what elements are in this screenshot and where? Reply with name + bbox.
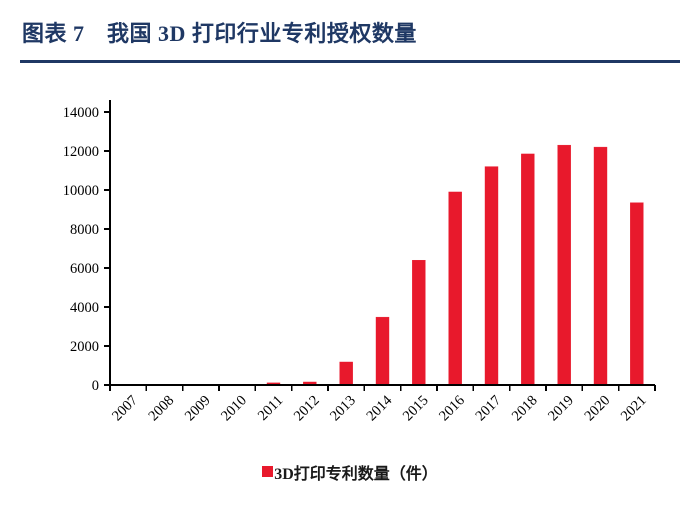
legend-item: 3D打印专利数量（件） xyxy=(262,460,438,484)
x-axis-tick-label: 2018 xyxy=(509,393,541,425)
y-axis-tick-marks xyxy=(104,112,110,385)
y-axis-tick-label: 4000 xyxy=(70,300,99,316)
legend-item-label: 3D打印专利数量（件） xyxy=(274,460,438,484)
x-axis-tick-label: 2013 xyxy=(327,393,359,425)
x-axis-tick-label: 2010 xyxy=(218,393,250,425)
bar-2014 xyxy=(376,317,389,385)
y-axis-tick-label: 6000 xyxy=(70,261,99,277)
bar-2020 xyxy=(594,147,607,385)
x-axis-tick-label: 2020 xyxy=(582,393,614,425)
y-axis-tick-label: 0 xyxy=(92,378,99,394)
chart-plot-area: 02000400060008000100001200014000 2007200… xyxy=(0,70,700,515)
chart-legend: 3D打印专利数量（件） xyxy=(0,460,700,484)
bar-2021 xyxy=(630,203,643,385)
x-axis-tick-labels: 2007200820092010201120122013201420152016… xyxy=(109,392,649,424)
x-axis-tick-label: 2019 xyxy=(545,393,577,425)
x-axis-tick-label: 2014 xyxy=(364,392,396,424)
y-axis-tick-label: 8000 xyxy=(70,222,99,238)
x-axis-tick-label: 2011 xyxy=(255,393,286,424)
x-axis-tick-label: 2015 xyxy=(400,393,432,425)
x-axis-tick-label: 2016 xyxy=(436,393,468,425)
bar-chart-svg: 02000400060008000100001200014000 2007200… xyxy=(0,70,700,470)
bar-2017 xyxy=(485,167,498,385)
x-axis-tick-label: 2017 xyxy=(473,393,505,425)
y-axis-tick-label: 14000 xyxy=(63,105,99,121)
bar-2013 xyxy=(340,362,353,385)
bar-2015 xyxy=(412,260,425,385)
page-title: 图表 7 我国 3D 打印行业专利授权数量 xyxy=(22,16,417,48)
bar-2019 xyxy=(558,145,571,385)
y-axis-tick-label: 12000 xyxy=(63,144,99,160)
bar-2018 xyxy=(521,154,534,385)
x-axis-tick-label: 2007 xyxy=(109,393,141,425)
x-axis-tick-marks xyxy=(110,385,655,391)
bar-2016 xyxy=(449,192,462,385)
y-axis-tick-label: 2000 xyxy=(70,339,99,355)
x-axis-tick-label: 2021 xyxy=(618,393,650,425)
x-axis-tick-label: 2012 xyxy=(291,393,323,425)
chart-header: 图表 7 我国 3D 打印行业专利授权数量 xyxy=(0,0,700,70)
x-axis-tick-label: 2009 xyxy=(182,393,214,425)
title-divider xyxy=(20,60,680,63)
y-axis-tick-label: 10000 xyxy=(63,183,99,199)
y-axis-tick-labels: 02000400060008000100001200014000 xyxy=(63,105,99,394)
x-axis-tick-label: 2008 xyxy=(146,393,178,425)
square-marker-icon xyxy=(262,466,273,477)
bar-series xyxy=(122,145,644,385)
